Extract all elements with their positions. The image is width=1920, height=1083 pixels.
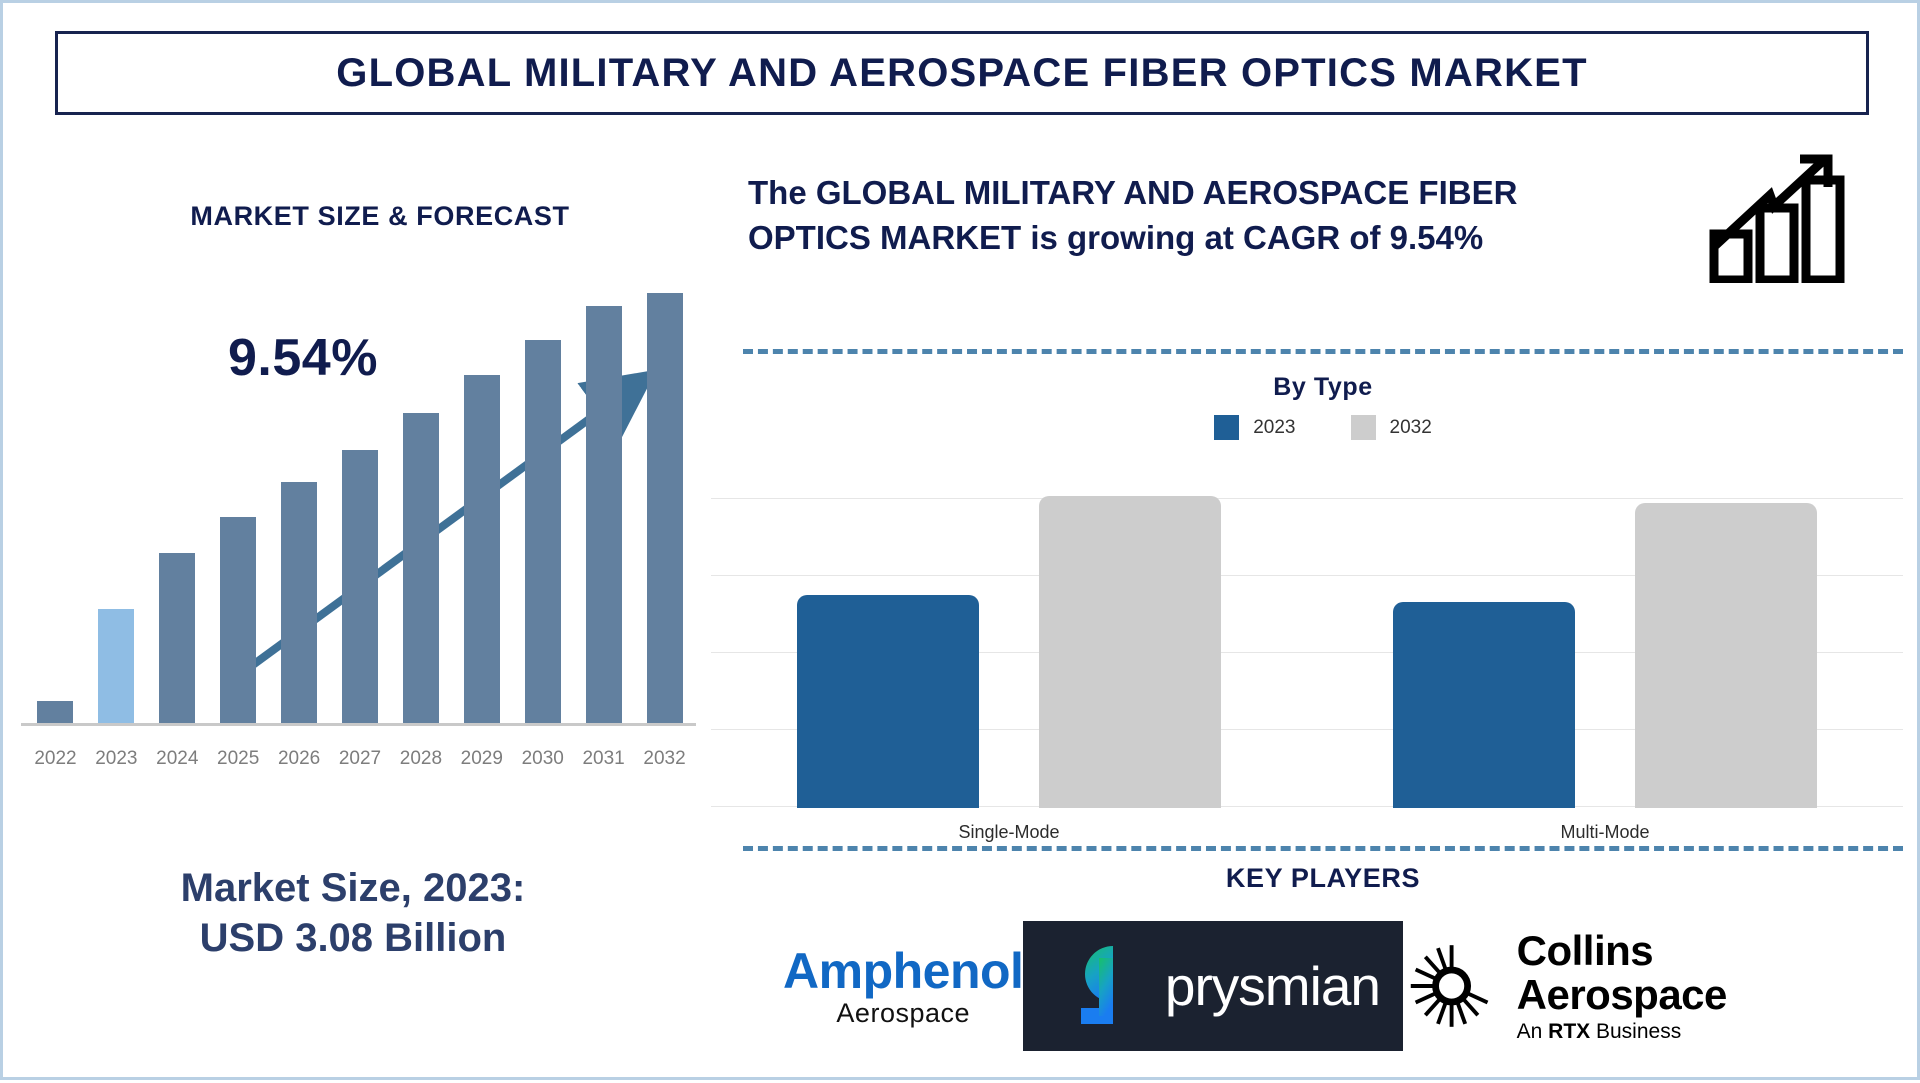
- legend-label-2032: 2032: [1390, 417, 1432, 439]
- amphenol-subtitle: Aerospace: [836, 1000, 970, 1027]
- market-size-bar-chart: 2022 2023 2024 2025 2026 2027 2028 2029 …: [3, 273, 703, 848]
- infographic-page: GLOBAL MILITARY AND AEROSPACE FIBER OPTI…: [0, 0, 1920, 1080]
- year-label: 2031: [573, 748, 634, 770]
- year-axis-labels: 2022 2023 2024 2025 2026 2027 2028 2029 …: [25, 748, 695, 770]
- amphenol-wordmark: Amphenol: [783, 946, 1023, 996]
- page-title-box: GLOBAL MILITARY AND AEROSPACE FIBER OPTI…: [55, 31, 1869, 115]
- collins-sunburst-icon: [1403, 936, 1500, 1036]
- bar-slot: [330, 293, 391, 723]
- by-type-category-labels: Single-Mode Multi-Mode: [711, 822, 1903, 843]
- bar-single-mode-2032: [1039, 496, 1221, 808]
- bar-slot: [269, 293, 330, 723]
- collins-wordmark: Collins Aerospace: [1517, 929, 1863, 1017]
- legend-item-2032: 2032: [1351, 415, 1432, 440]
- bar-2023: [98, 609, 134, 723]
- prysmian-mark-icon: [1069, 938, 1155, 1034]
- year-label: 2024: [147, 748, 208, 770]
- collins-sub-rtx: RTX: [1548, 1020, 1590, 1043]
- year-label: 2032: [634, 748, 695, 770]
- page-title: GLOBAL MILITARY AND AEROSPACE FIBER OPTI…: [336, 51, 1587, 96]
- bar-slot: [634, 293, 695, 723]
- market-size-bars: [25, 293, 695, 723]
- by-type-bar-chart: Single-Mode Multi-Mode: [711, 453, 1903, 843]
- bar-multi-mode-2023: [1393, 602, 1575, 808]
- bar-slot: [147, 293, 208, 723]
- market-size-forecast-heading: MARKET SIZE & FORECAST: [145, 201, 615, 232]
- year-label: 2022: [25, 748, 86, 770]
- year-label: 2029: [451, 748, 512, 770]
- key-players-logos: Amphenol Aerospace: [743, 911, 1903, 1061]
- collins-text-block: Collins Aerospace An RTX Business: [1517, 929, 1863, 1043]
- bar-slot: [451, 293, 512, 723]
- market-size-footer-line1: Market Size, 2023:: [63, 863, 643, 913]
- bar-slot: [390, 293, 451, 723]
- bar-2030: [525, 340, 561, 723]
- bar-2025: [220, 517, 256, 723]
- bar-multi-mode-2032: [1635, 503, 1817, 808]
- year-label: 2025: [208, 748, 269, 770]
- year-label: 2023: [86, 748, 147, 770]
- bar-slot: [86, 293, 147, 723]
- bar-group-single-mode: [711, 453, 1307, 808]
- growth-arrow-bars-icon: [1708, 148, 1848, 283]
- bar-2022: [37, 701, 73, 723]
- bar-group-multi-mode: [1307, 453, 1903, 808]
- x-axis-line: [21, 723, 696, 726]
- bar-2024: [159, 553, 195, 723]
- collins-subtitle: An RTX Business: [1517, 1021, 1863, 1043]
- legend-label-2023: 2023: [1253, 417, 1295, 439]
- category-label-multi-mode: Multi-Mode: [1307, 822, 1903, 843]
- by-type-legend: 2023 2032: [743, 415, 1903, 440]
- legend-item-2023: 2023: [1214, 415, 1295, 440]
- bar-slot: [208, 293, 269, 723]
- logo-amphenol-aerospace: Amphenol Aerospace: [783, 946, 1023, 1027]
- legend-swatch-2023: [1214, 415, 1239, 440]
- divider-bottom: [743, 846, 1903, 851]
- prysmian-wordmark: prysmian: [1165, 954, 1380, 1018]
- market-size-footer-line2: USD 3.08 Billion: [63, 913, 643, 963]
- year-label: 2026: [269, 748, 330, 770]
- logo-prysmian: prysmian: [1023, 921, 1403, 1051]
- bar-2032: [647, 293, 683, 723]
- bar-single-mode-2023: [797, 595, 979, 808]
- by-type-bars: [711, 453, 1903, 808]
- market-size-forecast-panel: MARKET SIZE & FORECAST 9.54%: [3, 123, 703, 1083]
- logo-collins-aerospace: Collins Aerospace An RTX Business: [1403, 929, 1863, 1043]
- right-panel: The GLOBAL MILITARY AND AEROSPACE FIBER …: [743, 123, 1903, 1083]
- bar-2031: [586, 306, 622, 723]
- bar-2027: [342, 450, 378, 723]
- bar-2026: [281, 482, 317, 723]
- year-label: 2028: [390, 748, 451, 770]
- market-size-footer: Market Size, 2023: USD 3.08 Billion: [63, 863, 643, 963]
- key-players-title: KEY PLAYERS: [743, 863, 1903, 894]
- collins-sub-suffix: Business: [1590, 1020, 1681, 1043]
- bar-2029: [464, 375, 500, 723]
- year-label: 2027: [330, 748, 391, 770]
- bar-slot: [25, 293, 86, 723]
- divider-top: [743, 349, 1903, 354]
- bar-slot: [573, 293, 634, 723]
- bar-slot: [512, 293, 573, 723]
- bar-2028: [403, 413, 439, 723]
- collins-sub-prefix: An: [1517, 1020, 1549, 1043]
- legend-swatch-2032: [1351, 415, 1376, 440]
- by-type-title: By Type: [743, 373, 1903, 402]
- year-label: 2030: [512, 748, 573, 770]
- cagr-headline: The GLOBAL MILITARY AND AEROSPACE FIBER …: [748, 171, 1648, 260]
- category-label-single-mode: Single-Mode: [711, 822, 1307, 843]
